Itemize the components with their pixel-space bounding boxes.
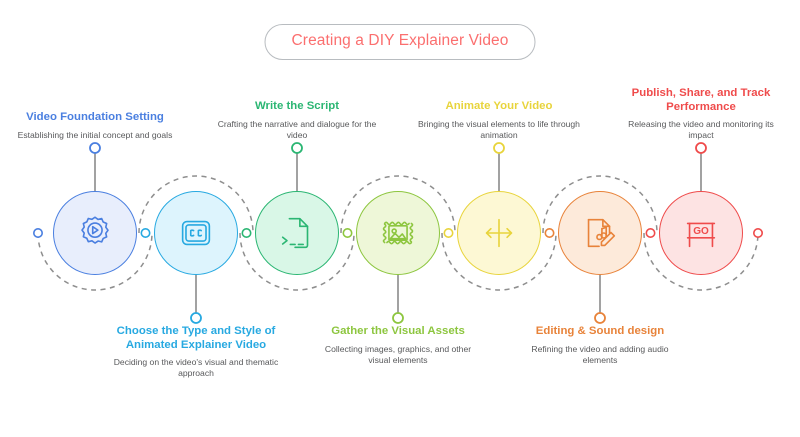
step-description-3: Crafting the narrative and dialogue for … xyxy=(212,119,382,141)
step-circle-5[interactable] xyxy=(457,191,541,275)
step-circle-3[interactable] xyxy=(255,191,339,275)
stem-dot-3 xyxy=(292,143,302,153)
step-title-2: Choose the Type and Style of Animated Ex… xyxy=(111,325,281,352)
step-description-7: Releasing the video and monitoring its i… xyxy=(616,119,786,141)
step-description-1: Establishing the initial concept and goa… xyxy=(10,130,180,141)
svg-text:GO: GO xyxy=(693,226,709,237)
step-circle-4[interactable] xyxy=(356,191,440,275)
step-title-1: Video Foundation Setting xyxy=(10,111,180,125)
junction-dot-end xyxy=(754,229,762,237)
step-description-2: Deciding on the video's visual and thema… xyxy=(111,357,281,379)
framed-picture-icon xyxy=(377,212,419,254)
stem-dot-1 xyxy=(90,143,100,153)
junction-dot-5 xyxy=(545,229,553,237)
script-terminal-icon xyxy=(276,212,318,254)
step-caption-3: Write the ScriptCrafting the narrative a… xyxy=(212,100,382,141)
junction-dot-4 xyxy=(444,229,452,237)
infographic-canvas: Creating a DIY Explainer Video xyxy=(0,0,800,437)
step-description-4: Collecting images, graphics, and other v… xyxy=(313,344,483,366)
step-caption-6: Editing & Sound designRefining the video… xyxy=(515,325,685,366)
step-title-7: Publish, Share, and Track Performance xyxy=(616,87,786,114)
closed-caption-icon xyxy=(175,212,217,254)
junction-dot-start xyxy=(34,229,42,237)
step-caption-2: Choose the Type and Style of Animated Ex… xyxy=(111,325,281,379)
go-banner-icon: GO xyxy=(680,212,722,254)
step-circle-7[interactable]: GO xyxy=(659,191,743,275)
step-caption-5: Animate Your VideoBringing the visual el… xyxy=(414,100,584,141)
gear-play-icon xyxy=(74,212,116,254)
step-title-5: Animate Your Video xyxy=(414,100,584,114)
step-caption-7: Publish, Share, and Track PerformanceRel… xyxy=(616,87,786,141)
step-caption-4: Gather the Visual AssetsCollecting image… xyxy=(313,325,483,366)
stem-dot-2 xyxy=(191,313,201,323)
step-circle-2[interactable] xyxy=(154,191,238,275)
step-title-6: Editing & Sound design xyxy=(515,325,685,339)
step-circle-1[interactable] xyxy=(53,191,137,275)
stem-dot-7 xyxy=(696,143,706,153)
junction-dot-2 xyxy=(242,229,250,237)
junction-dot-3 xyxy=(343,229,351,237)
step-description-6: Refining the video and adding audio elem… xyxy=(515,344,685,366)
step-title-4: Gather the Visual Assets xyxy=(313,325,483,339)
tween-arrows-icon xyxy=(478,212,520,254)
stem-dot-4 xyxy=(393,313,403,323)
stem-dot-6 xyxy=(595,313,605,323)
step-description-5: Bringing the visual elements to life thr… xyxy=(414,119,584,141)
audio-edit-document-icon xyxy=(579,212,621,254)
junction-dot-1 xyxy=(141,229,149,237)
step-circle-6[interactable] xyxy=(558,191,642,275)
step-caption-1: Video Foundation SettingEstablishing the… xyxy=(10,111,180,141)
junction-dot-6 xyxy=(646,229,654,237)
step-title-3: Write the Script xyxy=(212,100,382,114)
stem-dot-5 xyxy=(494,143,504,153)
